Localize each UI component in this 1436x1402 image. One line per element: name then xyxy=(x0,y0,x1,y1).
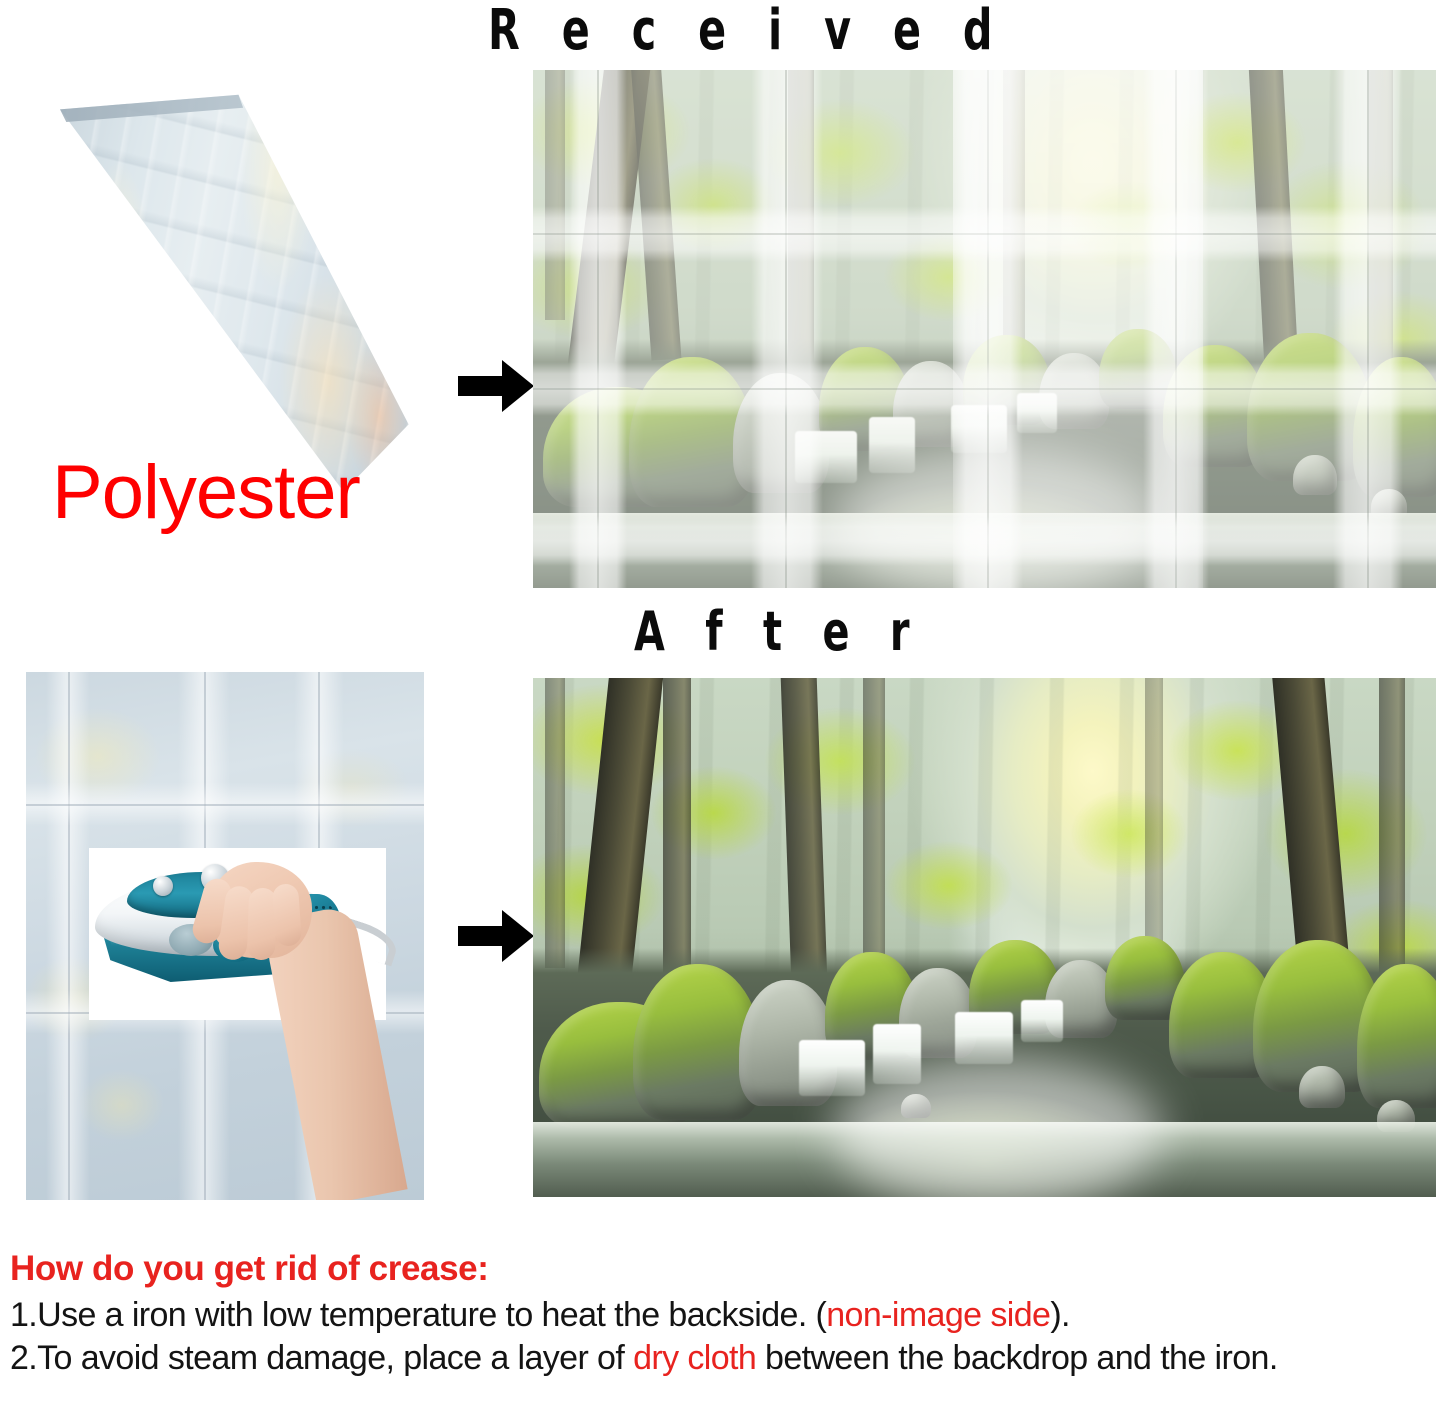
instruction-step-2: 2.To avoid steam damage, place a layer o… xyxy=(10,1338,1436,1379)
after-backdrop-photo xyxy=(533,678,1436,1197)
arrow-right-icon xyxy=(458,358,534,414)
received-washout-overlay xyxy=(533,70,1436,588)
arrow-right-icon-2 xyxy=(458,908,534,964)
step-1-highlight: non-image side xyxy=(826,1296,1050,1334)
polyester-label: Polyester xyxy=(52,455,360,531)
ironing-demo-image xyxy=(26,672,424,1200)
finger-4 xyxy=(272,883,302,947)
step-1-prefix: 1.Use a iron with low temperature to hea… xyxy=(10,1296,826,1334)
iron-spray-button xyxy=(153,876,173,896)
after-heading: A f t e r xyxy=(634,600,923,663)
instruction-infographic: R e c e i v e d Polyester xyxy=(0,0,1436,1402)
folded-fabric-image xyxy=(18,80,438,500)
received-heading: R e c e i v e d xyxy=(488,0,1006,63)
step-2-suffix: between the backdrop and the iron. xyxy=(756,1339,1278,1377)
forest-stream-bed-2 xyxy=(533,948,1436,1197)
instruction-step-1: 1.Use a iron with low temperature to hea… xyxy=(10,1295,1436,1336)
instructions-block: How do you get rid of crease: 1.Use a ir… xyxy=(8,1250,1436,1381)
received-backdrop-photo xyxy=(533,70,1436,588)
step-2-highlight: dry cloth xyxy=(633,1339,756,1377)
step-1-suffix: ). xyxy=(1050,1296,1070,1334)
instructions-heading: How do you get rid of crease: xyxy=(10,1250,1436,1289)
folded-fabric-shape xyxy=(18,80,438,500)
step-2-prefix: 2.To avoid steam damage, place a layer o… xyxy=(10,1339,633,1377)
